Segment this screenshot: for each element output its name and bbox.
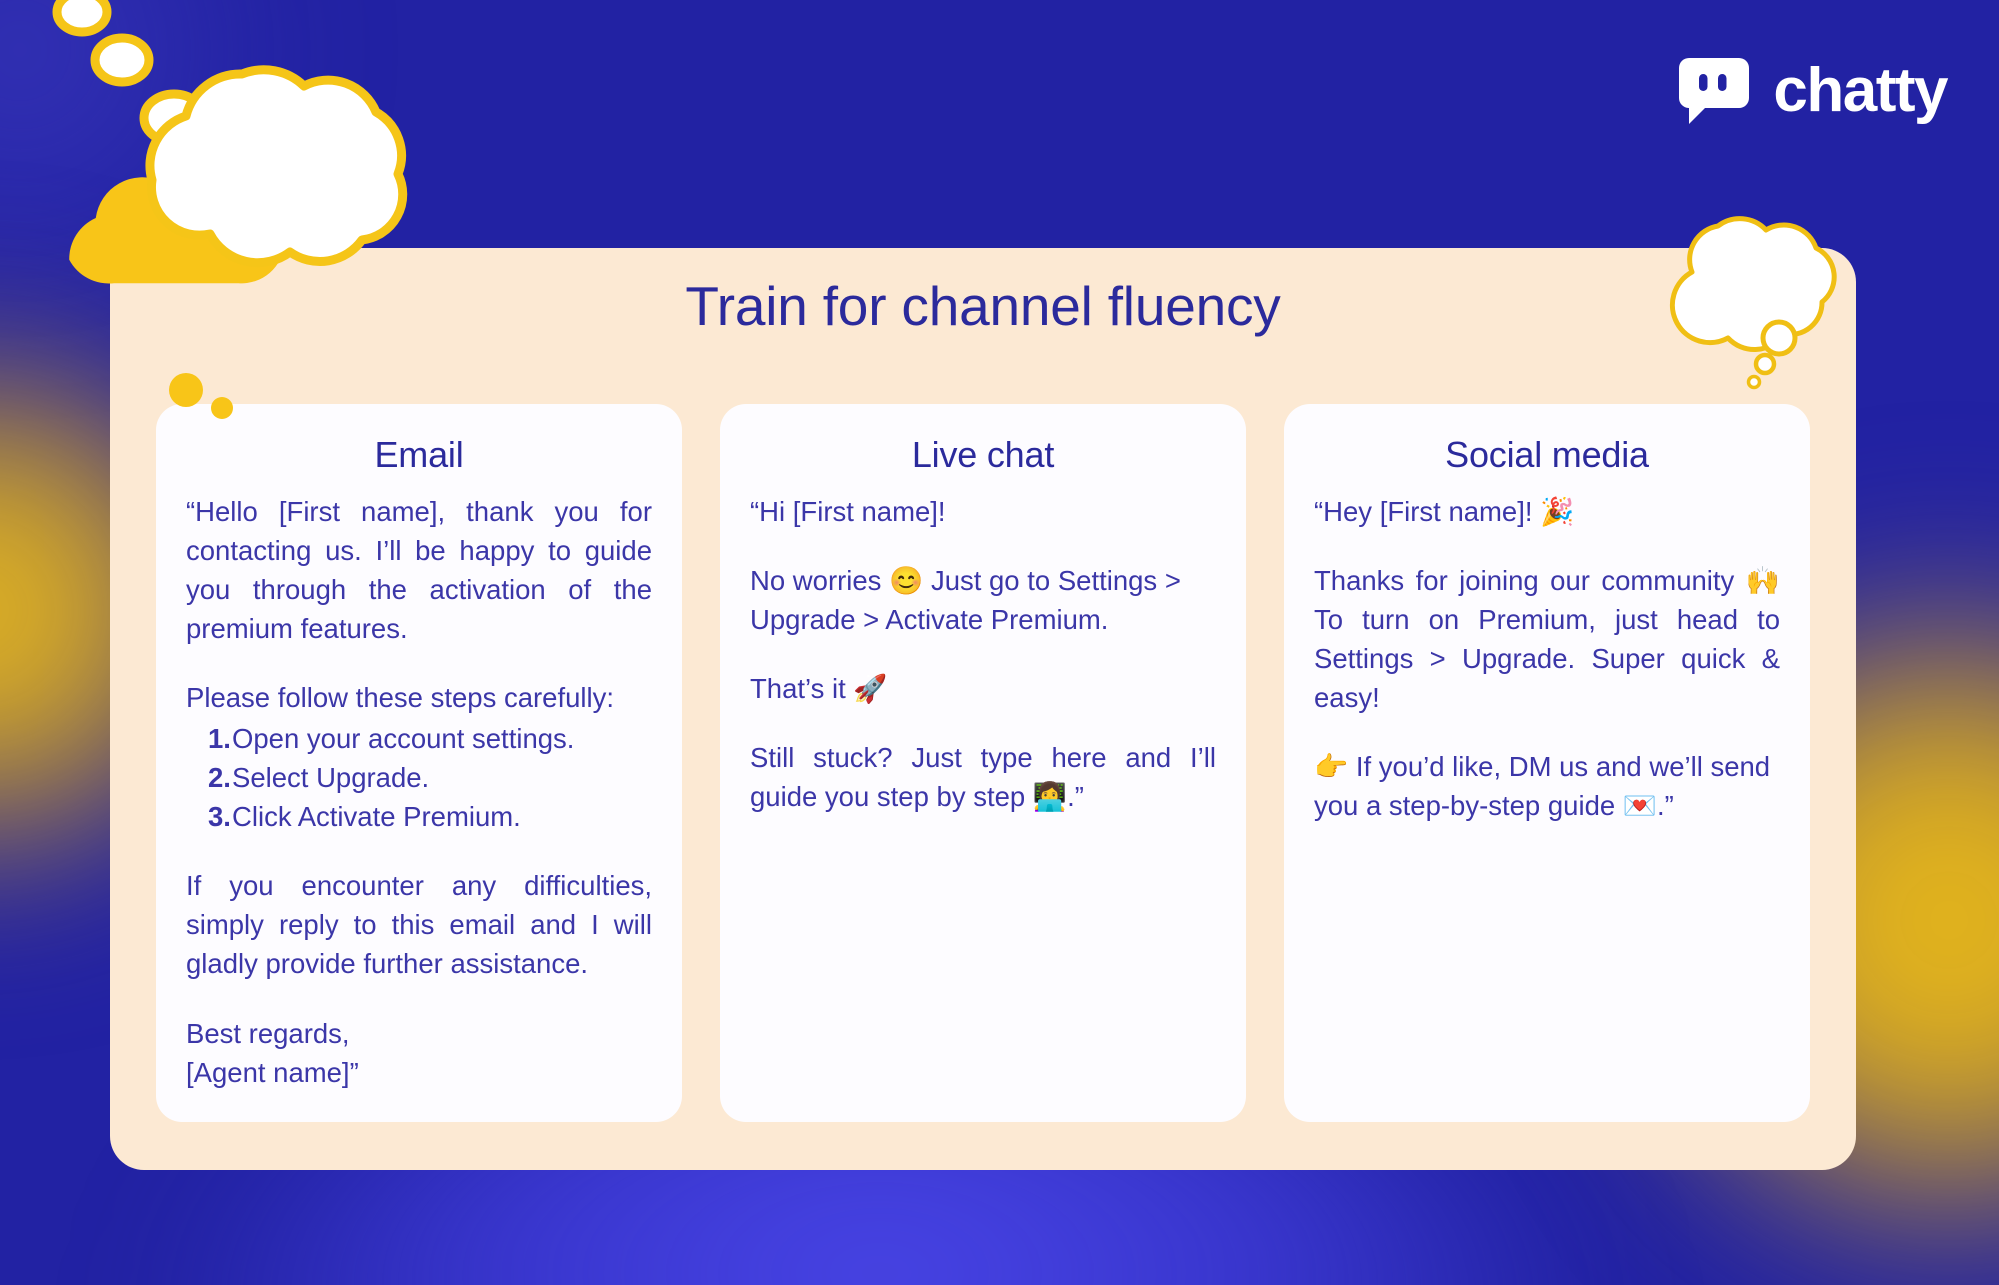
paragraph: “Hello [First name], thank you for conta… <box>186 492 652 648</box>
list-item-label: Open your account settings. <box>232 719 574 758</box>
card-title: Email <box>186 434 652 476</box>
list-item-label: Select Upgrade. <box>232 758 429 797</box>
paragraph: 👉 If you’d like, DM us and we’ll send yo… <box>1314 747 1780 825</box>
brand-logo[interactable]: chatty <box>1677 54 1947 128</box>
paragraph: Please follow these steps carefully: <box>186 678 652 717</box>
paragraph: That’s it 🚀 <box>750 669 1216 708</box>
list-item-number: 3. <box>186 797 232 836</box>
card-social-media[interactable]: Social media “Hey [First name]! 🎉 Thanks… <box>1284 404 1810 1122</box>
paragraph: Thanks for joining our community 🙌 To tu… <box>1314 561 1780 717</box>
list-item: 2. Select Upgrade. <box>186 758 652 797</box>
paragraph: “Hi [First name]! <box>750 492 1216 531</box>
card-live-chat[interactable]: Live chat “Hi [First name]! No worries 😊… <box>720 404 1246 1122</box>
paragraph: “Hey [First name]! 🎉 <box>1314 492 1780 531</box>
card-title: Social media <box>1314 434 1780 476</box>
paragraph: Best regards, <box>186 1014 652 1053</box>
chat-bubble-icon <box>1677 54 1751 128</box>
ordered-steps: 1. Open your account settings. 2. Select… <box>186 719 652 836</box>
list-item-number: 2. <box>186 758 232 797</box>
paragraph: If you encounter any difficulties, simpl… <box>186 866 652 983</box>
card-body: “Hi [First name]! No worries 😊 Just go t… <box>750 492 1216 816</box>
paragraph: Still stuck? Just type here and I’ll gui… <box>750 738 1216 816</box>
card-body: “Hey [First name]! 🎉 Thanks for joining … <box>1314 492 1780 825</box>
list-item: 1. Open your account settings. <box>186 719 652 758</box>
card-list: Email “Hello [First name], thank you for… <box>156 404 1810 1122</box>
card-email[interactable]: Email “Hello [First name], thank you for… <box>156 404 682 1122</box>
page-title: Train for channel fluency <box>110 274 1856 338</box>
card-body: “Hello [First name], thank you for conta… <box>186 492 652 1092</box>
poster-canvas: chatty Train for channel fluency Email “… <box>0 0 1999 1285</box>
card-title: Live chat <box>750 434 1216 476</box>
list-item: 3. Click Activate Premium. <box>186 797 652 836</box>
list-item-number: 1. <box>186 719 232 758</box>
paragraph: No worries 😊 Just go to Settings > Upgra… <box>750 561 1216 639</box>
paragraph: [Agent name]” <box>186 1053 652 1092</box>
list-item-label: Click Activate Premium. <box>232 797 521 836</box>
brand-name: chatty <box>1773 60 1947 122</box>
content-panel: Train for channel fluency Email “Hello [… <box>110 248 1856 1170</box>
